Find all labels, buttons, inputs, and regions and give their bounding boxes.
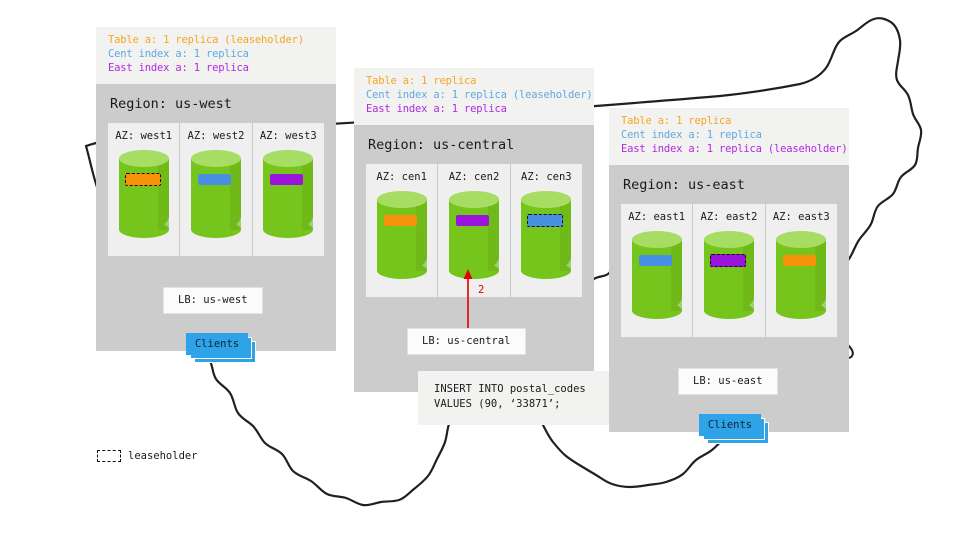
cylinder-shade — [488, 201, 499, 271]
az-east2[interactable]: AZ: east2 — [693, 204, 765, 337]
cylinder-shade — [158, 160, 169, 230]
az-label-east3: AZ: east3 — [773, 211, 830, 223]
cylinder-top — [704, 231, 754, 248]
region-title-us-central: Region: us-central — [368, 137, 582, 153]
range-table-a[interactable] — [384, 215, 417, 226]
az-west3[interactable]: AZ: west3 — [253, 123, 324, 256]
sql-statement-note: INSERT INTO postal_codes VALUES (90, ‘33… — [418, 371, 616, 425]
replica-line-table-a: Table a: 1 replica — [621, 115, 839, 129]
az-container-us-east: AZ: east1 AZ: east2 — [621, 204, 837, 337]
replica-summary-us-east: Table a: 1 replica Cent index a: 1 repli… — [609, 108, 849, 165]
az-east3[interactable]: AZ: east3 — [766, 204, 837, 337]
clients-stack-us-west[interactable]: Clients — [186, 333, 256, 359]
range-cent-index-a-leaseholder[interactable] — [527, 214, 563, 227]
node-cylinder-cen2[interactable] — [449, 191, 499, 279]
replica-line-table-a: Table a: 1 replica (leaseholder) — [108, 34, 326, 48]
sql-line-2: VALUES (90, ‘33871’; — [434, 397, 602, 412]
region-panel-us-east: Table a: 1 replica Cent index a: 1 repli… — [609, 108, 849, 432]
az-west1[interactable]: AZ: west1 — [108, 123, 180, 256]
cylinder-shade — [671, 241, 682, 311]
node-cylinder-west2[interactable] — [191, 150, 241, 238]
replica-line-cent-index-a: Cent index a: 1 replica — [108, 48, 326, 62]
az-west2[interactable]: AZ: west2 — [180, 123, 252, 256]
node-cylinder-east1[interactable] — [632, 231, 682, 319]
az-label-west1: AZ: west1 — [115, 130, 172, 142]
range-table-a[interactable] — [783, 255, 816, 266]
load-balancer-us-west[interactable]: LB: us-west — [163, 287, 263, 314]
cylinder-top — [776, 231, 826, 248]
clients-label-us-west[interactable]: Clients — [186, 333, 248, 355]
cylinder-shade — [302, 160, 313, 230]
cylinder-top — [263, 150, 313, 167]
cylinder-shade — [230, 160, 241, 230]
region-title-us-west: Region: us-west — [110, 96, 324, 112]
cylinder-top — [191, 150, 241, 167]
node-cylinder-east3[interactable] — [776, 231, 826, 319]
node-cylinder-cen3[interactable] — [521, 191, 571, 279]
load-balancer-us-east[interactable]: LB: us-east — [678, 368, 778, 395]
replica-line-table-a: Table a: 1 replica — [366, 75, 584, 89]
region-body-us-west: Region: us-west AZ: west1 AZ: west2 — [96, 84, 336, 351]
replica-line-cent-index-a: Cent index a: 1 replica (leaseholder) — [366, 89, 584, 103]
az-cen1[interactable]: AZ: cen1 — [366, 164, 438, 297]
legend-leaseholder: leaseholder — [97, 450, 198, 462]
sql-line-1: INSERT INTO postal_codes — [434, 382, 602, 397]
az-label-east1: AZ: east1 — [628, 211, 685, 223]
clients-stack-us-east[interactable]: Clients — [699, 414, 769, 440]
az-label-west2: AZ: west2 — [188, 130, 245, 142]
replica-summary-us-west: Table a: 1 replica (leaseholder) Cent in… — [96, 27, 336, 84]
range-cent-index-a[interactable] — [639, 255, 672, 266]
region-body-us-east: Region: us-east AZ: east1 AZ: east2 — [609, 165, 849, 432]
region-panel-us-west: Table a: 1 replica (leaseholder) Cent in… — [96, 27, 336, 351]
range-cent-index-a[interactable] — [198, 174, 231, 185]
cylinder-top — [521, 191, 571, 208]
cylinder-shade — [815, 241, 826, 311]
az-cen3[interactable]: AZ: cen3 — [511, 164, 582, 297]
node-cylinder-east2[interactable] — [704, 231, 754, 319]
cylinder-top — [377, 191, 427, 208]
az-container-us-west: AZ: west1 AZ: west2 — [108, 123, 324, 256]
az-label-cen2: AZ: cen2 — [449, 171, 500, 183]
region-panel-us-central: Table a: 1 replica Cent index a: 1 repli… — [354, 68, 594, 392]
node-cylinder-west1[interactable] — [119, 150, 169, 238]
replica-line-east-index-a: East index a: 1 replica (leaseholder) — [621, 143, 839, 157]
region-body-us-central: Region: us-central AZ: cen1 AZ: cen2 — [354, 125, 594, 392]
cylinder-shade — [416, 201, 427, 271]
replica-line-east-index-a: East index a: 1 replica — [366, 103, 584, 117]
arrow-label-2: 2 — [478, 284, 484, 296]
diagram-canvas: Table a: 1 replica (leaseholder) Cent in… — [0, 0, 960, 540]
cylinder-shade — [560, 201, 571, 271]
az-east1[interactable]: AZ: east1 — [621, 204, 693, 337]
legend-label: leaseholder — [128, 450, 198, 462]
replica-summary-us-central: Table a: 1 replica Cent index a: 1 repli… — [354, 68, 594, 125]
range-east-index-a[interactable] — [456, 215, 489, 226]
replica-line-east-index-a: East index a: 1 replica — [108, 62, 326, 76]
az-label-cen1: AZ: cen1 — [376, 171, 427, 183]
cylinder-top — [119, 150, 169, 167]
az-label-cen3: AZ: cen3 — [521, 171, 572, 183]
leaseholder-swatch-icon — [97, 450, 121, 462]
replica-line-cent-index-a: Cent index a: 1 replica — [621, 129, 839, 143]
cylinder-top — [632, 231, 682, 248]
az-label-west3: AZ: west3 — [260, 130, 317, 142]
az-label-east2: AZ: east2 — [701, 211, 758, 223]
range-table-a-leaseholder[interactable] — [125, 173, 161, 186]
cylinder-top — [449, 191, 499, 208]
node-cylinder-west3[interactable] — [263, 150, 313, 238]
load-balancer-us-central[interactable]: LB: us-central — [407, 328, 526, 355]
request-arrow-to-cen2 — [460, 268, 476, 330]
range-east-index-a-leaseholder[interactable] — [710, 254, 746, 267]
node-cylinder-cen1[interactable] — [377, 191, 427, 279]
cylinder-shade — [743, 241, 754, 311]
region-title-us-east: Region: us-east — [623, 177, 837, 193]
clients-label-us-east[interactable]: Clients — [699, 414, 761, 436]
range-east-index-a[interactable] — [270, 174, 303, 185]
